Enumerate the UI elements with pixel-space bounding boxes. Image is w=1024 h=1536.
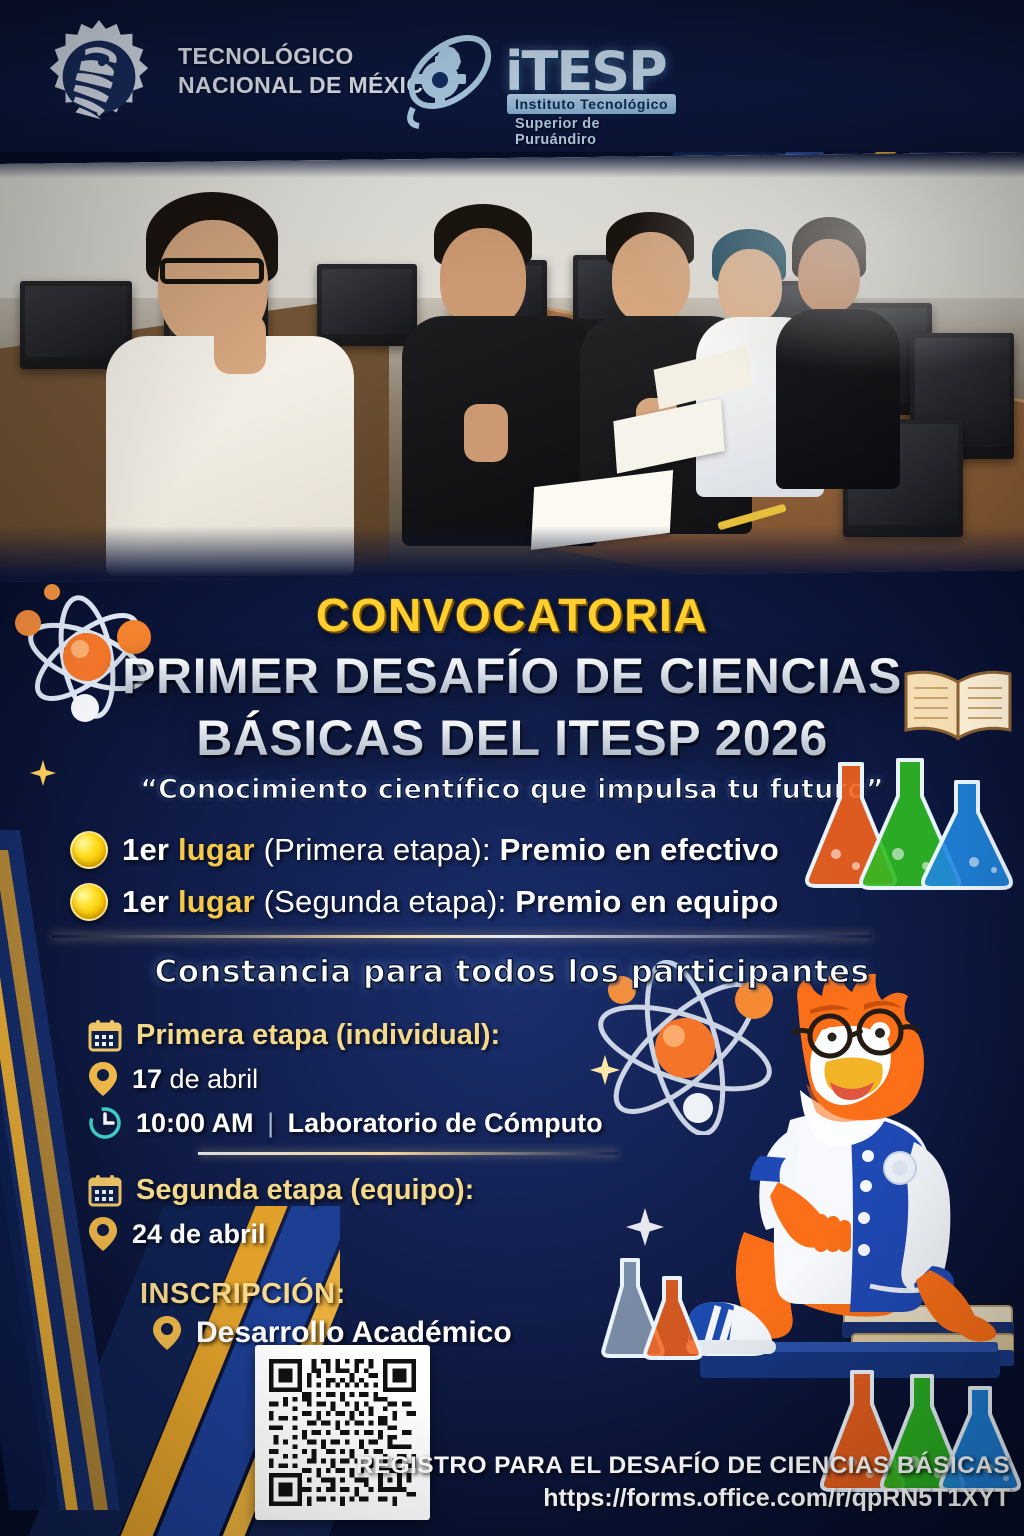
footer-registration-label: REGISTRO PARA EL DESAFÍO DE CIENCIAS BÁS… [356, 1452, 1010, 1480]
student-1 [102, 186, 352, 582]
stage-2-date-row: 24 de abril [88, 1216, 1024, 1252]
slogan: “Conocimiento científico que impulsa tu … [0, 774, 1024, 805]
map-pin-icon [152, 1315, 182, 1351]
itesp-logo: iTESP Instituto Tecnológico Superior de … [395, 14, 685, 142]
main-title-line-1: PRIMER DESAFÍO DE CIENCIAS [0, 648, 1024, 704]
divider-1 [52, 935, 872, 938]
itesp-subtitle-1: Instituto Tecnológico [507, 94, 676, 114]
gold-coin-icon [70, 883, 108, 921]
prize-item-1: 1er lugar (Primera etapa): Premio en efe… [70, 831, 1024, 869]
prize-text-2: 1er lugar (Segunda etapa): Premio en equ… [122, 884, 779, 920]
poster-root: TECNOLÓGICO NACIONAL DE MÉXICO® [0, 0, 1024, 1536]
stage-2-heading-row: Segunda etapa (equipo): [88, 1173, 1024, 1207]
stage-1-time-row: 10:00 AM | Laboratorio de Cómputo [88, 1106, 1024, 1140]
stage-2-heading: Segunda etapa (equipo): [136, 1174, 474, 1207]
tecnm-logo-icon [40, 18, 158, 136]
map-pin-icon [88, 1061, 118, 1097]
stage-1-date: 17 de abril [132, 1064, 258, 1095]
prize-text-1: 1er lugar (Primera etapa): Premio en efe… [122, 832, 779, 868]
schedule-block: Primera etapa (individual): 17 de abril … [0, 1018, 1024, 1252]
certificate-note: Constancia para todos los participantes [0, 954, 1024, 990]
itesp-rocket-gear-icon [395, 22, 505, 130]
stage-1-heading-row: Primera etapa (individual): [88, 1018, 1024, 1052]
stage-2-date: 24 de abril [132, 1219, 266, 1250]
prize-item-2: 1er lugar (Segunda etapa): Premio en equ… [70, 883, 1024, 921]
clock-icon [88, 1106, 122, 1140]
kicker-title: CONVOCATORIA [0, 588, 1024, 642]
map-pin-icon [88, 1216, 118, 1252]
gold-coin-icon [70, 831, 108, 869]
stage-1-heading: Primera etapa (individual): [136, 1019, 500, 1052]
calendar-icon [88, 1173, 122, 1207]
stage-1-time: 10:00 AM | Laboratorio de Cómputo [136, 1108, 603, 1139]
poster-body: CONVOCATORIA PRIMER DESAFÍO DE CIENCIAS … [0, 560, 1024, 1351]
calendar-icon [88, 1018, 122, 1052]
main-title-line-2: BÁSICAS DEL ITESP 2026 [0, 710, 1024, 766]
registration-label: INSCRIPCIÓN: [140, 1278, 1024, 1311]
stage-1-date-row: 17 de abril [88, 1061, 1024, 1097]
footer-block: REGISTRO PARA EL DESAFÍO DE CIENCIAS BÁS… [356, 1452, 1010, 1513]
footer-registration-url[interactable]: https://forms.office.com/r/qpRN5T1XYT [356, 1484, 1010, 1513]
poster-header: TECNOLÓGICO NACIONAL DE MÉXICO® [0, 0, 1024, 152]
computer-lab-scene [0, 152, 1024, 582]
divider-2 [198, 1152, 618, 1155]
students-lab-photo [0, 152, 1024, 582]
prizes-list: 1er lugar (Primera etapa): Premio en efe… [0, 831, 1024, 921]
itesp-subtitle-2: Superior de Puruándiro [515, 116, 685, 148]
